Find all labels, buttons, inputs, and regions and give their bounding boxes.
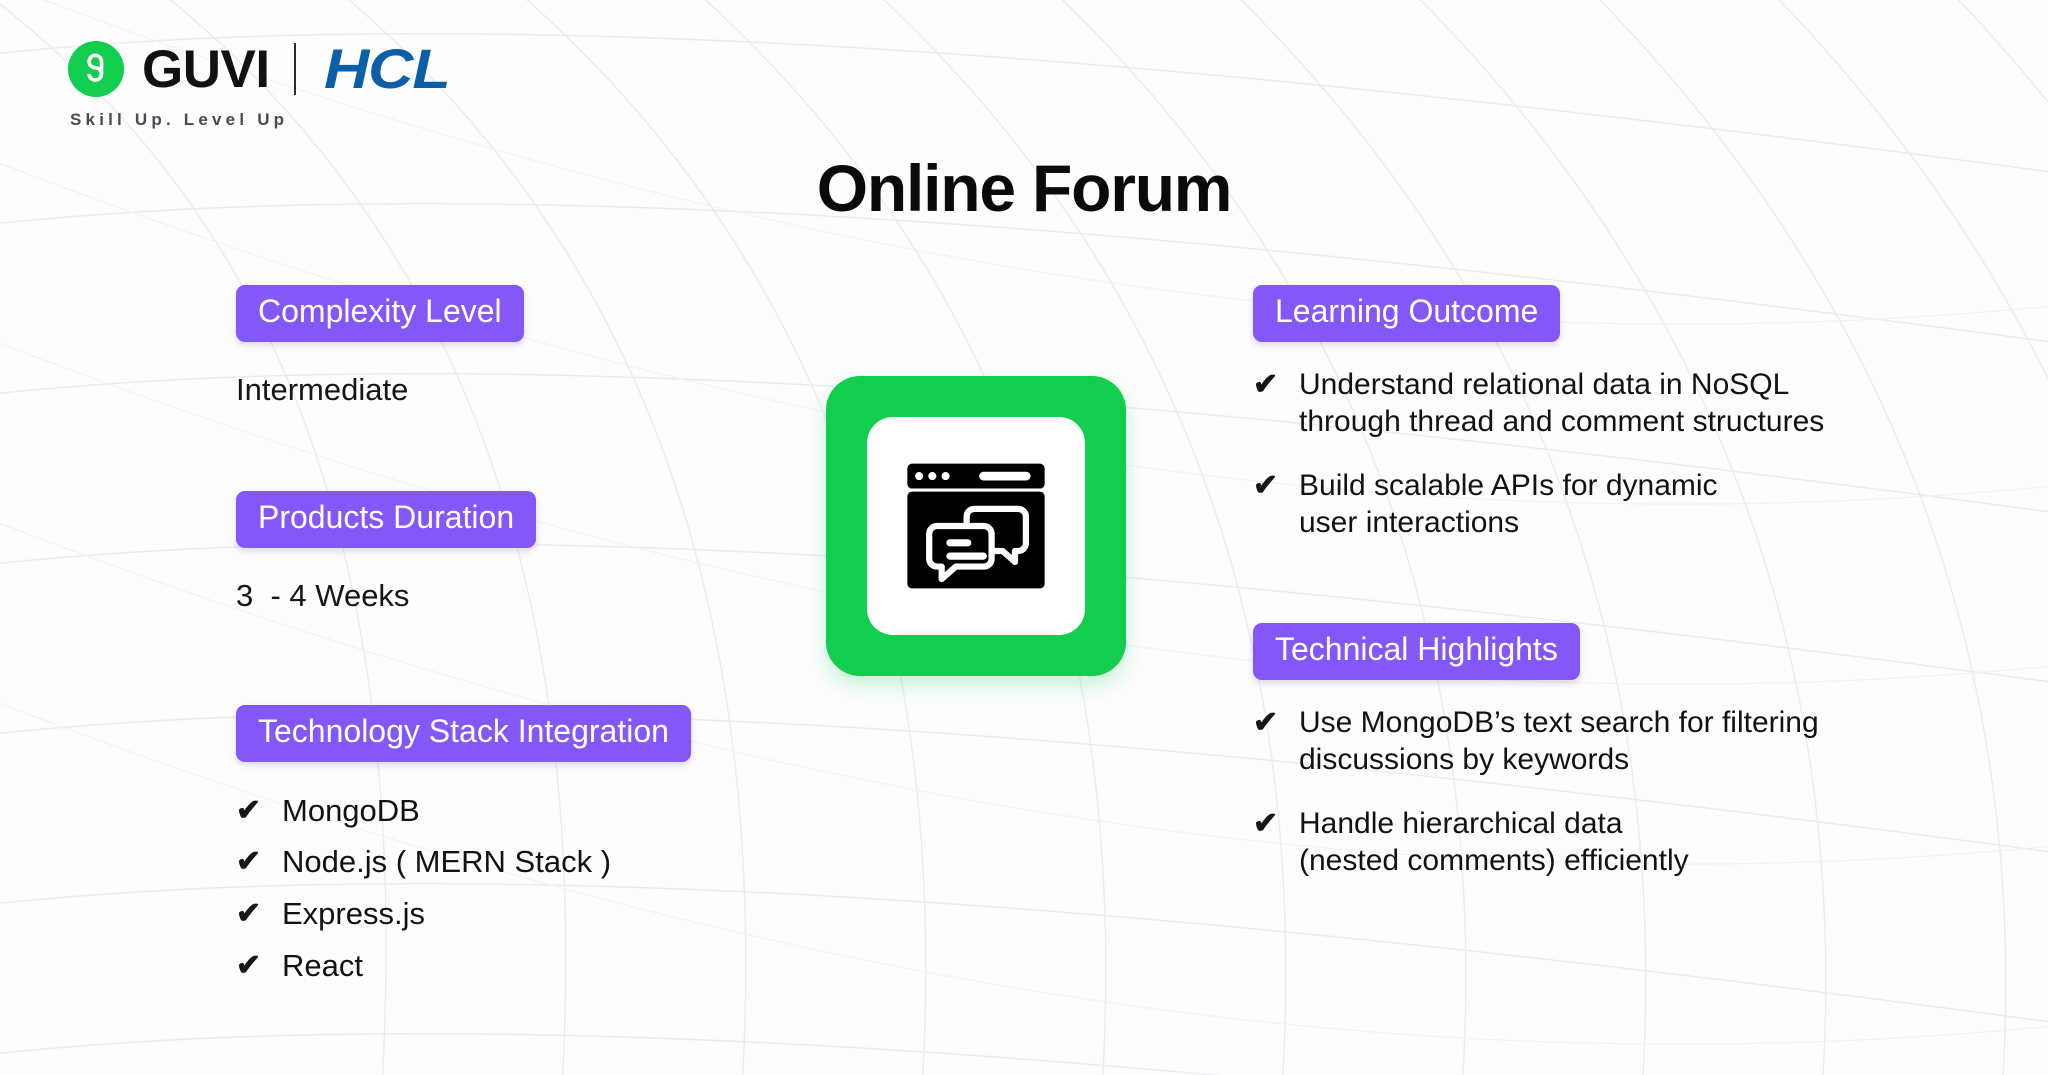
check-icon: ✔ [236, 947, 264, 985]
brand-tagline: Skill Up. Level Up [70, 110, 436, 130]
list-item-label: Node.js ( MERN Stack ) [282, 843, 611, 882]
list-item-label: React [282, 947, 363, 986]
slide-canvas: GUVI HCL Skill Up. Level Up Online Forum… [0, 0, 2048, 1075]
check-icon: ✔ [1253, 704, 1281, 742]
page-title: Online Forum [0, 150, 2048, 226]
browser-window-chat-glyph [898, 448, 1054, 604]
check-icon: ✔ [236, 792, 264, 830]
complexity-level-value: Intermediate [236, 372, 524, 408]
brand-header: GUVI HCL Skill Up. Level Up [68, 38, 436, 130]
list-item-label: Handle hierarchical data (nested comment… [1299, 805, 1689, 880]
brand-divider [294, 43, 296, 95]
check-icon: ✔ [236, 895, 264, 933]
forum-browser-chat-icon [826, 376, 1126, 676]
learning-outcome-badge: Learning Outcome [1253, 285, 1560, 342]
list-item-label: Build scalable APIs for dynamic user int… [1299, 467, 1718, 542]
list-item: ✔ Express.js [236, 895, 691, 934]
list-item: ✔ Build scalable APIs for dynamic user i… [1253, 467, 1824, 542]
check-icon: ✔ [1253, 366, 1281, 404]
complexity-level-badge: Complexity Level [236, 285, 524, 342]
products-duration-value: 3 - 4 Weeks [236, 578, 536, 614]
learning-outcome-list: ✔ Understand relational data in NoSQL th… [1253, 366, 1824, 542]
technology-stack-section: Technology Stack Integration ✔ MongoDB ✔… [236, 705, 691, 999]
list-item-label: Understand relational data in NoSQL thro… [1299, 366, 1824, 441]
complexity-level-section: Complexity Level Intermediate [236, 285, 524, 408]
list-item: ✔ Use MongoDB’s text search for filterin… [1253, 704, 1819, 779]
brand-logos-row: GUVI HCL [68, 38, 436, 100]
list-item-label: MongoDB [282, 792, 420, 831]
guvi-circle-logo-icon [68, 41, 124, 97]
list-item-label: Use MongoDB’s text search for filtering … [1299, 704, 1819, 779]
products-duration-badge: Products Duration [236, 491, 536, 548]
list-item: ✔ Understand relational data in NoSQL th… [1253, 366, 1824, 441]
list-item-label: Express.js [282, 895, 425, 934]
check-icon: ✔ [1253, 805, 1281, 843]
icon-outer-tile [826, 376, 1126, 676]
check-icon: ✔ [1253, 467, 1281, 505]
technical-highlights-badge: Technical Highlights [1253, 623, 1580, 680]
list-item: ✔ Handle hierarchical data (nested comme… [1253, 805, 1819, 880]
products-duration-section: Products Duration 3 - 4 Weeks [236, 491, 536, 614]
technology-stack-badge: Technology Stack Integration [236, 705, 691, 762]
learning-outcome-section: Learning Outcome ✔ Understand relational… [1253, 285, 1824, 568]
icon-inner-tile [867, 417, 1085, 635]
technology-stack-list: ✔ MongoDB ✔ Node.js ( MERN Stack ) ✔ Exp… [236, 792, 691, 986]
technical-highlights-section: Technical Highlights ✔ Use MongoDB’s tex… [1253, 623, 1819, 906]
list-item: ✔ Node.js ( MERN Stack ) [236, 843, 691, 882]
list-item: ✔ React [236, 947, 691, 986]
hcl-wordmark: HCL [324, 41, 450, 97]
list-item: ✔ MongoDB [236, 792, 691, 831]
guvi-wordmark: GUVI [142, 43, 270, 96]
technical-highlights-list: ✔ Use MongoDB’s text search for filterin… [1253, 704, 1819, 880]
check-icon: ✔ [236, 843, 264, 881]
